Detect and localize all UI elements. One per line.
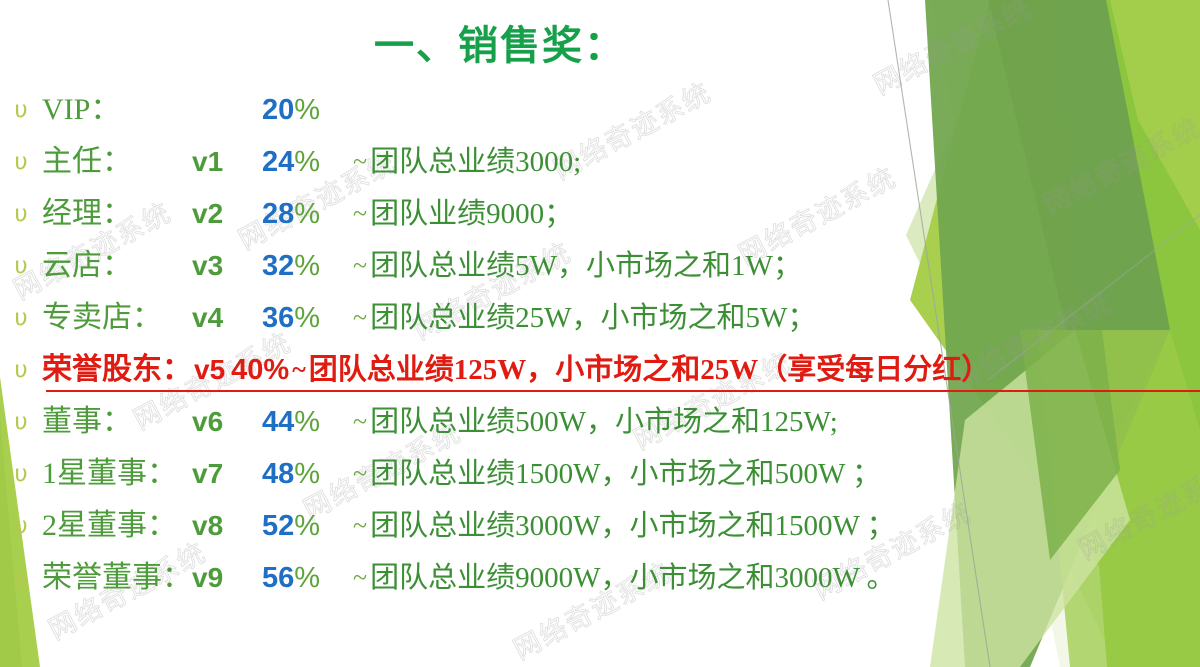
tier-percent: 36% <box>262 292 350 344</box>
tier-row: υ 云店： v3 32% ~ 团队总业绩5W，小市场之和1W； <box>0 240 1200 292</box>
tier-label: 1星董事： <box>42 448 192 500</box>
tier-label: 荣誉股东： <box>42 344 192 396</box>
tier-percent: 24% <box>262 136 350 188</box>
tier-percent-value: 28 <box>262 198 294 230</box>
tier-requirement: 团队总业绩3000; <box>370 136 581 188</box>
tier-percent: 48% <box>262 448 350 500</box>
tier-row: υ VIP： 20% <box>0 84 1200 136</box>
tier-label: 经理： <box>42 188 192 240</box>
tier-label: VIP： <box>42 84 192 136</box>
tilde-separator: ~ <box>350 448 370 500</box>
tilde-separator: ~ <box>289 344 309 396</box>
tier-label: 董事： <box>42 396 192 448</box>
tier-percent: 56% <box>262 552 350 604</box>
tilde-separator: ~ <box>350 188 370 240</box>
tilde-separator: ~ <box>350 552 370 604</box>
tier-code: v4 <box>192 292 262 344</box>
tier-percent-value: 56 <box>262 562 294 594</box>
tier-percent-value: 20 <box>262 94 294 126</box>
tier-requirement: 团队总业绩25W，小市场之和5W； <box>370 292 816 344</box>
tier-code: v5 <box>192 344 231 396</box>
tier-label: 云店： <box>42 240 192 292</box>
highlight-underline <box>46 390 1200 392</box>
tilde-separator: ~ <box>350 396 370 448</box>
list-bullet-icon: υ <box>0 188 42 240</box>
slide-canvas: 网络奇迹系统 网络奇迹系统 网络奇迹系统 网络奇迹系统 网络奇迹系统 网络奇迹系… <box>0 0 1200 667</box>
tier-row: υ 经理： v2 28% ~ 团队业绩9000； <box>0 188 1200 240</box>
tier-requirement: 团队总业绩3000W，小市场之和1500W ； <box>370 500 895 552</box>
tilde-separator: ~ <box>350 136 370 188</box>
slide-title: 一、销售奖： <box>0 24 1000 68</box>
commission-tier-list: υ VIP： 20% υ 主任： v1 24% ~ 团队总业绩3000; υ 经… <box>0 84 1200 604</box>
tier-code: v9 <box>192 552 262 604</box>
tier-percent-value: 24 <box>262 146 294 178</box>
tilde-separator: ~ <box>350 240 370 292</box>
tier-code: v1 <box>192 136 262 188</box>
tier-code: v6 <box>192 396 262 448</box>
tier-percent: 20% <box>262 84 350 136</box>
tilde-separator: ~ <box>350 292 370 344</box>
tier-label: 主任： <box>42 136 192 188</box>
list-bullet-icon: υ <box>0 552 42 604</box>
tier-percent-value: 52 <box>262 510 294 542</box>
tier-percent-value: 48 <box>262 458 294 490</box>
tier-row-highlighted: υ 荣誉股东： v5 40% ~ 团队总业绩125W，小市场之和25W（享受每日… <box>0 344 1200 396</box>
tier-percent: 32% <box>262 240 350 292</box>
list-bullet-icon: υ <box>0 500 42 552</box>
tier-row: υ 主任： v1 24% ~ 团队总业绩3000; <box>0 136 1200 188</box>
tier-code: v3 <box>192 240 262 292</box>
percent-symbol: % <box>294 510 320 542</box>
tier-requirement: 团队总业绩9000W，小市场之和3000W 。 <box>370 552 895 604</box>
tier-percent-value: 40 <box>231 354 263 386</box>
tier-row: υ 专卖店： v4 36% ~ 团队总业绩25W，小市场之和5W； <box>0 292 1200 344</box>
list-bullet-icon: υ <box>0 292 42 344</box>
tier-requirement: 团队总业绩125W，小市场之和25W（享受每日分红） <box>309 344 991 396</box>
list-bullet-icon: υ <box>0 344 42 396</box>
list-bullet-icon: υ <box>0 136 42 188</box>
tier-label: 专卖店： <box>42 292 192 344</box>
list-bullet-icon: υ <box>0 84 42 136</box>
tier-percent-value: 36 <box>262 302 294 334</box>
tier-requirement: 团队总业绩1500W，小市场之和500W ； <box>370 448 881 500</box>
tier-row: υ 荣誉董事： v9 56% ~ 团队总业绩9000W，小市场之和3000W 。 <box>0 552 1200 604</box>
percent-symbol: % <box>294 406 320 438</box>
tier-row: υ 1星董事： v7 48% ~ 团队总业绩1500W，小市场之和500W ； <box>0 448 1200 500</box>
tier-percent: 52% <box>262 500 350 552</box>
percent-symbol: % <box>294 94 320 126</box>
percent-symbol: % <box>294 458 320 490</box>
tier-label: 2星董事： <box>42 500 192 552</box>
list-bullet-icon: υ <box>0 240 42 292</box>
tier-percent: 28% <box>262 188 350 240</box>
tier-code: v7 <box>192 448 262 500</box>
tier-label: 荣誉董事： <box>42 552 192 604</box>
tier-requirement: 团队总业绩500W，小市场之和125W; <box>370 396 838 448</box>
percent-symbol: % <box>294 302 320 334</box>
tilde-separator: ~ <box>350 500 370 552</box>
tier-code: v8 <box>192 500 262 552</box>
tier-requirement: 团队总业绩5W，小市场之和1W； <box>370 240 802 292</box>
list-bullet-icon: υ <box>0 448 42 500</box>
tier-percent: 44% <box>262 396 350 448</box>
tier-percent-value: 32 <box>262 250 294 282</box>
list-bullet-icon: υ <box>0 396 42 448</box>
tier-row: υ 董事： v6 44% ~ 团队总业绩500W，小市场之和125W; <box>0 396 1200 448</box>
percent-symbol: % <box>294 250 320 282</box>
percent-symbol: % <box>263 354 289 386</box>
tier-percent-value: 44 <box>262 406 294 438</box>
percent-symbol: % <box>294 562 320 594</box>
percent-symbol: % <box>294 198 320 230</box>
tier-percent: 40% <box>231 344 289 396</box>
tier-code: v2 <box>192 188 262 240</box>
tier-row: υ 2星董事： v8 52% ~ 团队总业绩3000W，小市场之和1500W ； <box>0 500 1200 552</box>
percent-symbol: % <box>294 146 320 178</box>
tier-requirement: 团队业绩9000； <box>370 188 573 240</box>
